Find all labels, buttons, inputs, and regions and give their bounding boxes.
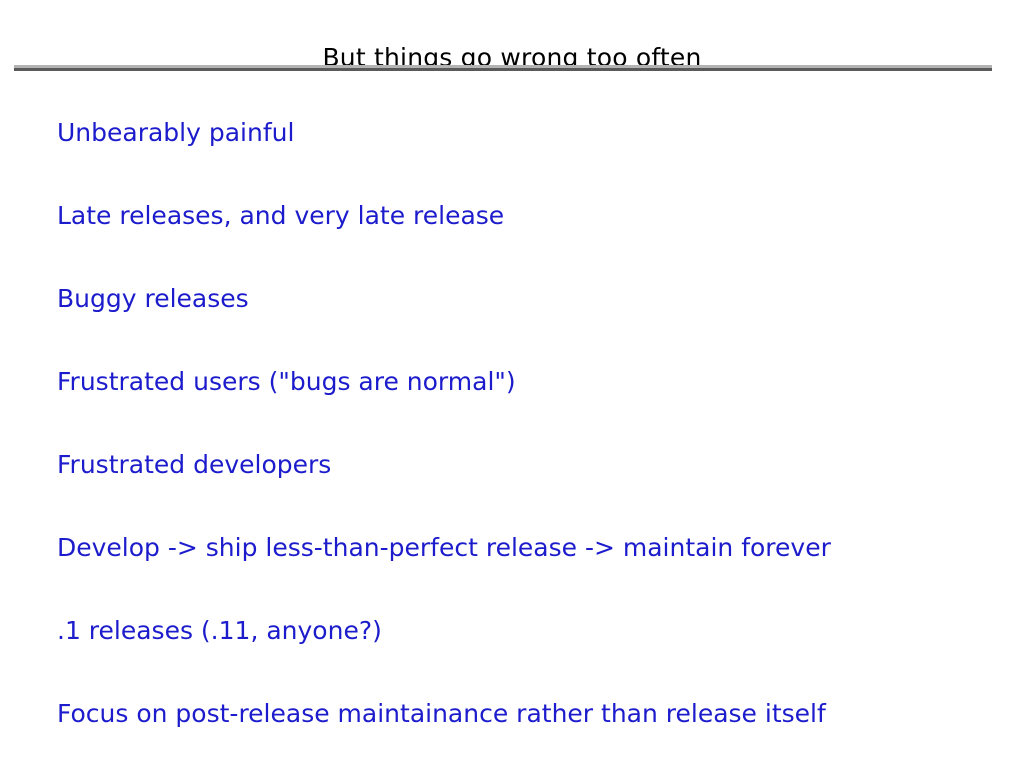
bullet-item-8: Focus on post-release maintainance rathe… — [57, 699, 987, 729]
bullet-item-3: Buggy releases — [57, 284, 987, 314]
presentation-slide: But things go wrong too often Unbearably… — [0, 0, 1024, 768]
title-divider-rule — [14, 65, 992, 71]
bullet-item-2: Late releases, and very late release — [57, 201, 987, 231]
bullet-item-4: Frustrated users ("bugs are normal") — [57, 367, 987, 397]
bullet-item-7: .1 releases (.11, anyone?) — [57, 616, 987, 646]
bullet-item-1: Unbearably painful — [57, 118, 987, 148]
bullet-item-6: Develop -> ship less-than-perfect releas… — [57, 533, 987, 563]
bullet-item-5: Frustrated developers — [57, 450, 987, 480]
slide-body-list: Unbearably painful Late releases, and ve… — [57, 118, 987, 729]
title-divider-shadow — [14, 68, 992, 71]
